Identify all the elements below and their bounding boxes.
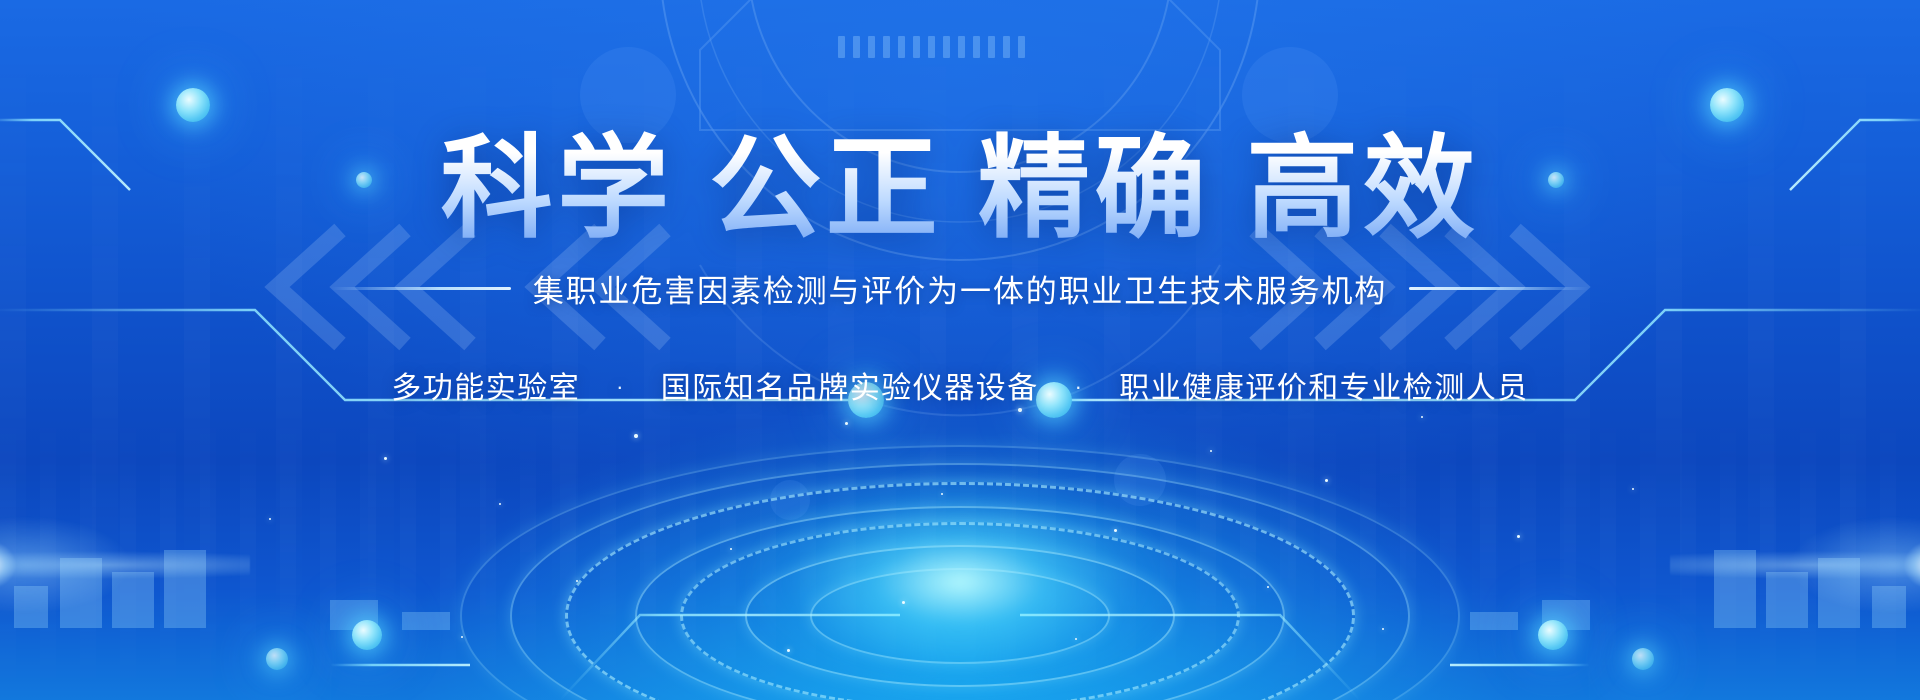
tagline-item-1: 多功能实验室 — [391, 372, 580, 405]
subtitle: 集职业危害因素检测与评价为一体的职业卫生技术服务机构 — [533, 266, 1387, 311]
tagline: 多功能实验室 · 国际知名品牌实验仪器设备 · 职业健康评价和专业检测人员 — [0, 363, 1920, 407]
banner-content: 科学 公正 精确 高效 集职业危害因素检测与评价为一体的职业卫生技术服务机构 多… — [0, 0, 1920, 407]
banner-hero: 科学 公正 精确 高效 集职业危害因素检测与评价为一体的职业卫生技术服务机构 多… — [0, 0, 1920, 700]
tagline-item-2: 国际知名品牌实验仪器设备 — [661, 372, 1039, 405]
subtitle-rule-left — [331, 287, 511, 290]
headline: 科学 公正 精确 高效 — [0, 0, 1920, 246]
subtitle-row: 集职业危害因素检测与评价为一体的职业卫生技术服务机构 — [0, 266, 1920, 311]
tagline-separator: · — [1075, 374, 1084, 400]
tagline-item-3: 职业健康评价和专业检测人员 — [1119, 372, 1529, 405]
tagline-separator: · — [616, 374, 625, 400]
subtitle-rule-right — [1409, 287, 1589, 290]
sparkle-particles — [0, 400, 1920, 700]
